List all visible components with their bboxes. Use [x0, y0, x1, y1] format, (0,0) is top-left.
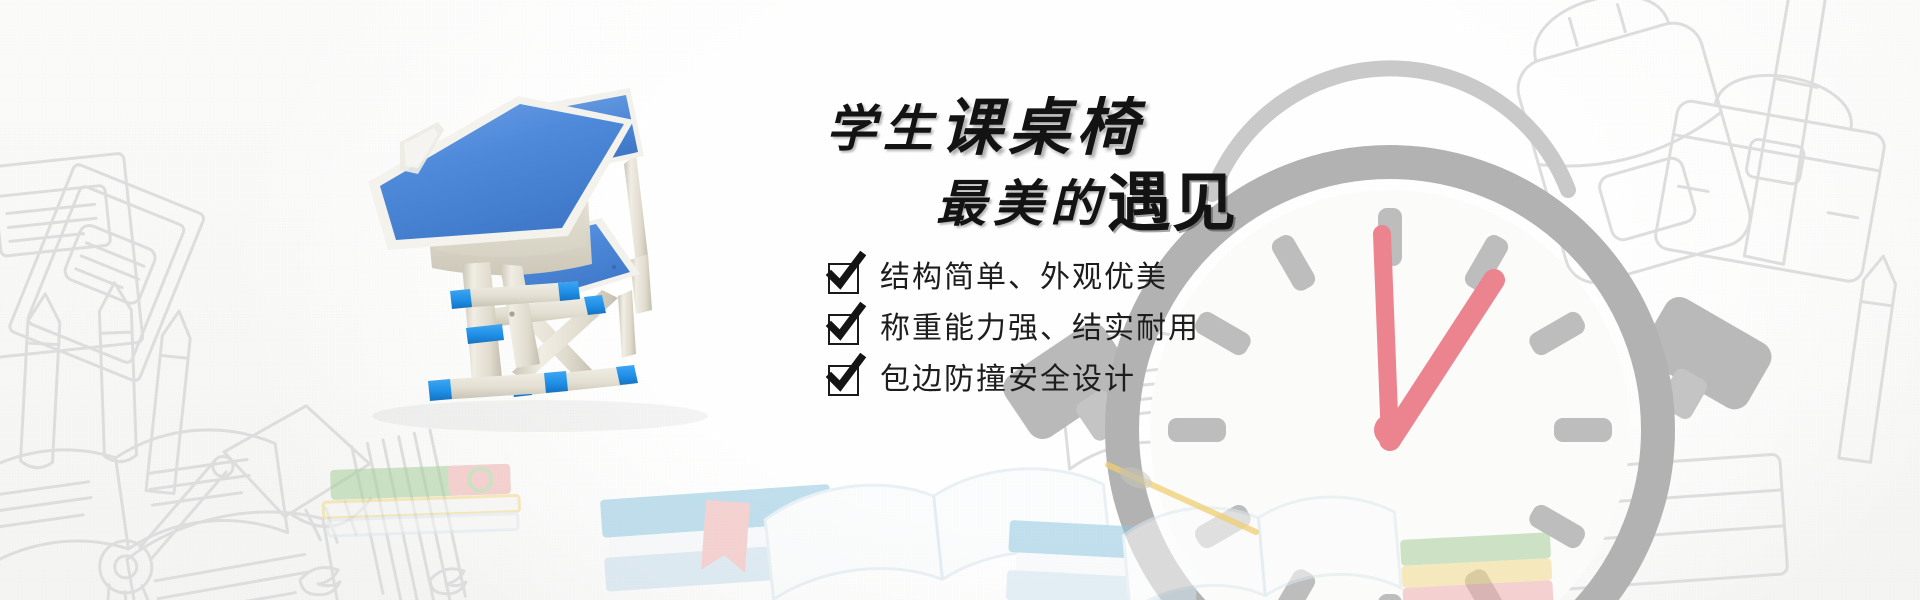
headline-brush-lead: 学生 [826, 101, 940, 157]
feature-label: 包边防撞安全设计 [880, 365, 1136, 395]
promo-banner: 学生课桌椅 最美的遇见 结构简单、外观优美 称重能力强 [0, 0, 1920, 600]
product-shadow [372, 400, 708, 432]
book-stack [1400, 532, 1554, 600]
copy-block: 学生课桌椅 最美的遇见 结构简单、外观优美 称重能力强 [826, 92, 1526, 472]
list-item: 包边防撞安全设计 [828, 356, 1200, 404]
headline-brush-lead-2: 最美的 [936, 176, 1107, 232]
list-item: 结构简单、外观优美 [828, 254, 1200, 302]
feature-label: 称重能力强、结实耐用 [880, 314, 1200, 344]
feature-list: 结构简单、外观优美 称重能力强、结实耐用 包边防撞安全设计 [828, 254, 1200, 407]
open-book [1122, 491, 1401, 600]
headline-line-2: 最美的遇见 [936, 172, 1237, 236]
checkmark-icon [828, 314, 859, 345]
headline-brush-emphasis: 课桌椅 [940, 95, 1144, 163]
list-item: 称重能力强、结实耐用 [828, 305, 1200, 353]
book-stack [322, 463, 520, 536]
headline-line-1: 学生课桌椅 [826, 98, 1144, 160]
headline-bold-emphasis: 遇见 [1107, 167, 1237, 241]
product-photo-desk-and-chair [330, 78, 850, 458]
feature-label: 结构简单、外观优美 [880, 263, 1168, 293]
checkmark-icon [828, 263, 859, 294]
checkmark-icon [828, 365, 859, 396]
